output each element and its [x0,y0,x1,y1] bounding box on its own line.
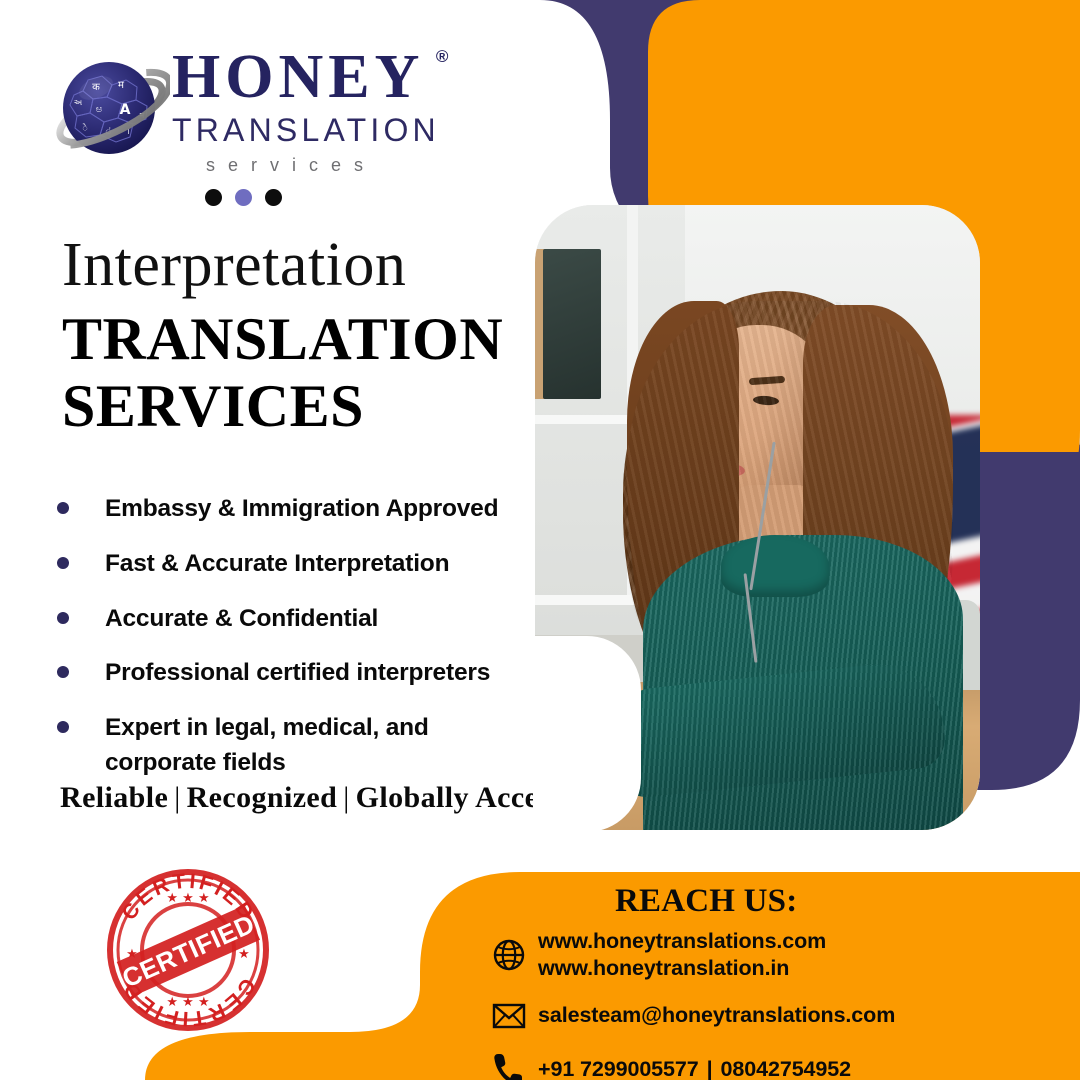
feature-text: Accurate & Confidential [105,602,378,637]
list-item: Fast & Accurate Interpretation [57,547,527,582]
registered-trademark-icon: ® [436,48,449,65]
logo-wordmark: HONEY® TRANSLATION services [172,46,472,176]
logo-name-primary: HONEY® [172,46,424,108]
headline-script-line: Interpretation [62,234,532,296]
contact-row-email[interactable]: salesteam@honeytranslations.com [492,995,1052,1037]
tagline-part-1: Reliable [60,781,168,814]
website-2[interactable]: www.honeytranslation.in [538,955,826,982]
bullet-dot-icon [57,721,69,733]
bullet-dot-icon [57,557,69,569]
hero-photo [535,205,980,830]
bullet-dot-icon [57,612,69,624]
svg-text:અ: અ [74,98,83,107]
logo-dots-divider [205,189,282,206]
photo-corner-notch [533,636,641,832]
headline-line-2: SERVICES [62,373,532,440]
tagline-part-2: Recognized [187,781,338,814]
phone-icon [492,1049,538,1080]
list-item: Accurate & Confidential [57,602,527,637]
list-item: Expert in legal, medical, and corporate … [57,711,527,781]
headline-group: Interpretation TRANSLATION SERVICES [62,234,532,440]
tagline-separator: | [337,781,355,814]
contact-row-phone[interactable]: +91 7299005577|08042754952 [492,1049,1052,1080]
envelope-icon [492,995,538,1037]
website-1[interactable]: www.honeytranslations.com [538,928,826,955]
list-item: Embassy & Immigration Approved [57,492,527,527]
svg-text:★ ★ ★: ★ ★ ★ [166,995,209,1010]
svg-text:★: ★ [238,947,250,962]
dot-2 [235,189,252,206]
dot-1 [205,189,222,206]
svg-text:म: म [118,80,125,91]
bullet-dot-icon [57,666,69,678]
svg-text:ಅ: ಅ [96,104,103,115]
contact-row-website[interactable]: www.honeytranslations.com www.honeytrans… [492,928,1052,983]
headline-main: TRANSLATION SERVICES [62,306,532,440]
headline-line-1: TRANSLATION [62,306,532,373]
brand-logo: क म ௢ અ ಅ A न े ் । HONEY® TRANSLATION s… [52,46,472,211]
phone-1[interactable]: +91 7299005577 [538,1057,699,1080]
svg-text:े: े [82,123,87,134]
phone-2[interactable]: 08042754952 [721,1057,851,1080]
email-text[interactable]: salesteam@honeytranslations.com [538,1002,895,1029]
promotional-poster: क म ௢ અ ಅ A न े ் । HONEY® TRANSLATION s… [0,0,1080,1080]
svg-text:A: A [120,102,131,118]
feature-text: Embassy & Immigration Approved [105,492,498,527]
website-text: www.honeytranslations.com www.honeytrans… [538,928,826,983]
bullet-dot-icon [57,502,69,514]
svg-text:★ ★ ★: ★ ★ ★ [166,891,209,906]
feature-text: Fast & Accurate Interpretation [105,547,449,582]
reach-us-title: REACH US: [615,883,797,920]
contact-list: www.honeytranslations.com www.honeytrans… [492,928,1052,1080]
phone-separator: | [699,1057,721,1080]
logo-name-tertiary: services [172,155,472,176]
globe-languages-icon: क म ௢ અ ಅ A न े ் । [52,52,170,170]
feature-text: Professional certified interpreters [105,656,490,691]
logo-name-secondary: TRANSLATION [172,114,472,148]
tagline: Reliable|Recognized|Globally Accepted [60,781,597,815]
certified-stamp-badge: CERTIFIED CERTIFIED ★ ★ ★ ★ ★ ★ ★ ★ CERT… [104,866,272,1034]
list-item: Professional certified interpreters [57,656,527,691]
phone-text: +91 7299005577|08042754952 [538,1056,851,1080]
dot-3 [265,189,282,206]
tagline-separator: | [168,781,186,814]
feature-list: Embassy & Immigration Approved Fast & Ac… [57,492,527,801]
feature-text: Expert in legal, medical, and corporate … [105,711,445,781]
globe-icon [492,934,538,976]
